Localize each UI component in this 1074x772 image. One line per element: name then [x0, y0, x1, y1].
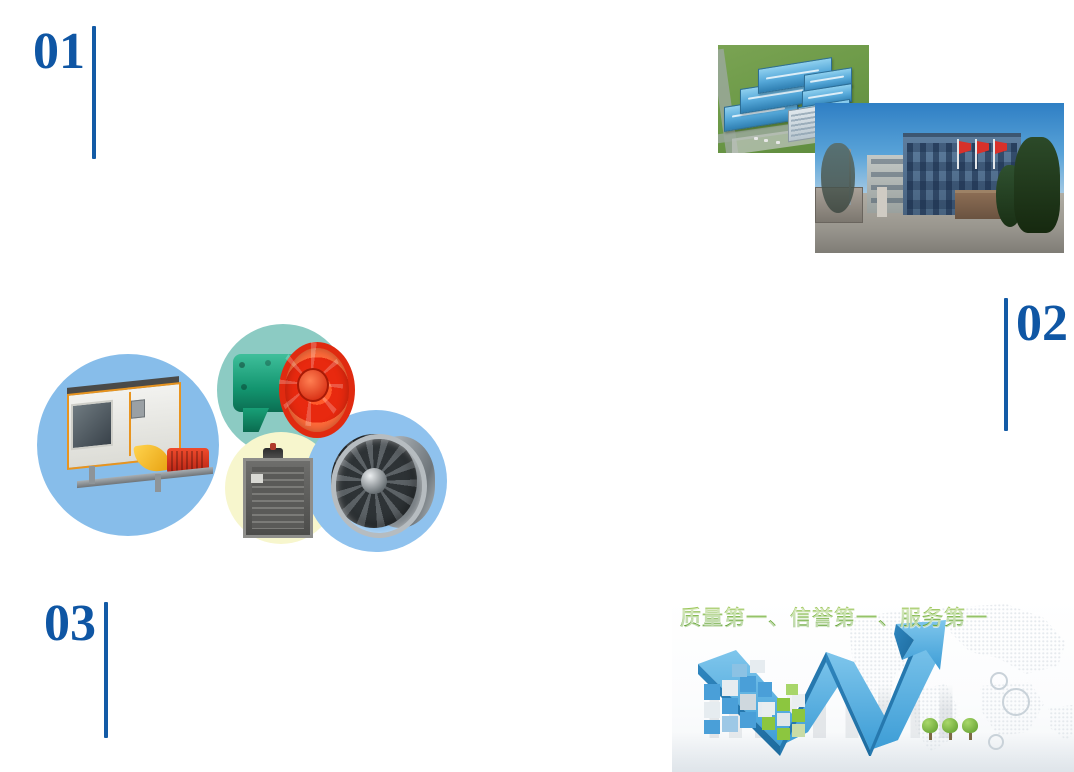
page-canvas: 01 02 — [0, 0, 1074, 772]
tree-3-trunk — [969, 733, 972, 740]
section-number-02: 02 — [1016, 298, 1068, 350]
photo-flag-2 — [975, 139, 977, 169]
tree-1 — [922, 718, 938, 740]
photo-flag-1 — [957, 139, 959, 169]
tree-2-crown — [942, 718, 958, 733]
section-marker-03: 03 — [44, 598, 108, 738]
tree-3-crown — [962, 718, 978, 733]
product-mixed-flow-metal-fan — [331, 432, 439, 532]
damper-frame — [243, 458, 313, 538]
box-fan-leg-2 — [155, 474, 161, 492]
section-rule-01 — [92, 26, 96, 159]
render-vehicle-1 — [754, 137, 758, 140]
product-axial-flow-fan — [229, 336, 345, 444]
tree-1-trunk — [929, 733, 932, 740]
ring-small-bottom — [988, 734, 1004, 750]
tree-2-trunk — [949, 733, 952, 740]
photo-tree-right — [1014, 137, 1060, 233]
box-fan-inlet — [71, 400, 113, 450]
photo-tree-left — [821, 143, 855, 213]
tree-1-crown — [922, 718, 938, 733]
ring-large — [1002, 688, 1030, 716]
box-fan-base-rail — [77, 467, 213, 488]
section-number-01: 01 — [33, 26, 85, 78]
growth-arrow-banner: 质量第一、信誉第一、服务第一 — [672, 598, 1074, 772]
box-fan-leg-1 — [89, 466, 95, 484]
tree-row — [922, 718, 978, 740]
section-rule-03 — [104, 602, 108, 738]
axial-fan-foot — [243, 408, 269, 432]
section-marker-01: 01 — [33, 26, 96, 159]
damper-label — [251, 474, 263, 483]
photo-post — [877, 187, 887, 217]
section-marker-02: 02 — [1004, 298, 1068, 431]
box-fan-control-box — [131, 399, 145, 418]
office-building-photo — [815, 103, 1064, 253]
fan-products-collage — [33, 322, 425, 550]
metal-fan-hub-nose — [361, 468, 387, 494]
axial-fan-hub — [297, 368, 329, 402]
tree-3 — [962, 718, 978, 740]
rubik-cube-green-icon — [760, 684, 818, 742]
section-number-03: 03 — [44, 598, 96, 650]
product-box-type-centrifugal-fan-unit — [59, 382, 219, 502]
tree-2 — [942, 718, 958, 740]
photo-flag-3 — [993, 139, 995, 169]
render-vehicle-2 — [764, 139, 768, 142]
section-rule-02 — [1004, 298, 1008, 431]
product-air-damper-filter-box — [237, 448, 315, 536]
render-vehicle-3 — [776, 141, 780, 144]
ring-small-top — [990, 672, 1008, 690]
banner-slogan: 质量第一、信誉第一、服务第一 — [680, 602, 988, 632]
